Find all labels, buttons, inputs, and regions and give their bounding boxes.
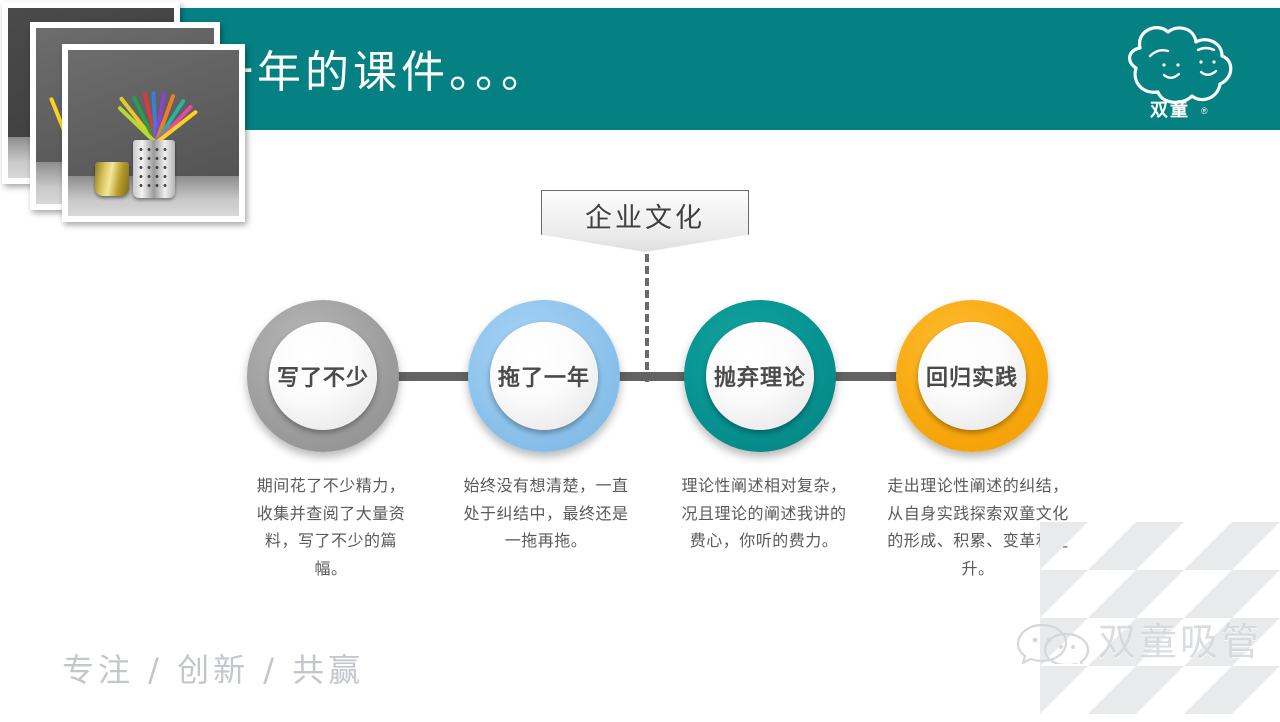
straw-holder xyxy=(133,140,175,198)
timeline-connector xyxy=(300,372,980,381)
photo-frame-front xyxy=(62,44,245,222)
node-label: 抛弃理论 xyxy=(714,360,806,392)
node-caption-1: 期间花了不少精力，收集并查阅了大量资料，写了不少的篇幅。 xyxy=(256,472,406,582)
node-core: 写了不少 xyxy=(269,322,377,430)
timeline-node-1[interactable]: 写了不少 xyxy=(247,300,399,452)
culture-banner-label: 企业文化 xyxy=(541,190,749,240)
shuangtong-logo: 双童 ® xyxy=(1106,18,1256,122)
wechat-icon xyxy=(1014,616,1092,664)
footer-slogan: 专注 / 创新 / 共赢 xyxy=(62,645,364,691)
watermark-text: 双童吸管 xyxy=(1098,611,1262,666)
logo-wordmark: 双童 xyxy=(1150,96,1190,122)
logo-registered-mark: ® xyxy=(1201,106,1208,116)
timeline-node-2[interactable]: 拖了一年 xyxy=(468,300,620,452)
node-core: 抛弃理论 xyxy=(706,322,814,430)
slide-root: 拖了一年的课件。。。 双童 ® xyxy=(0,0,1280,722)
banner-dashed-connector xyxy=(645,254,649,382)
node-label: 拖了一年 xyxy=(498,360,590,392)
node-core: 回归实践 xyxy=(918,322,1026,430)
node-core: 拖了一年 xyxy=(490,322,598,430)
node-label: 写了不少 xyxy=(277,360,369,392)
straw-product-photos xyxy=(0,0,252,228)
node-caption-2: 始终没有想清楚，一直处于纠结中，最终还是一拖再拖。 xyxy=(460,472,632,555)
golden-glass xyxy=(95,162,129,196)
timeline-node-4[interactable]: 回归实践 xyxy=(896,300,1048,452)
timeline-node-3[interactable]: 抛弃理论 xyxy=(684,300,836,452)
node-caption-3: 理论性阐述相对复杂，况且理论的阐述我讲的费心，你听的费力。 xyxy=(678,472,850,555)
node-label: 回归实践 xyxy=(926,360,1018,392)
